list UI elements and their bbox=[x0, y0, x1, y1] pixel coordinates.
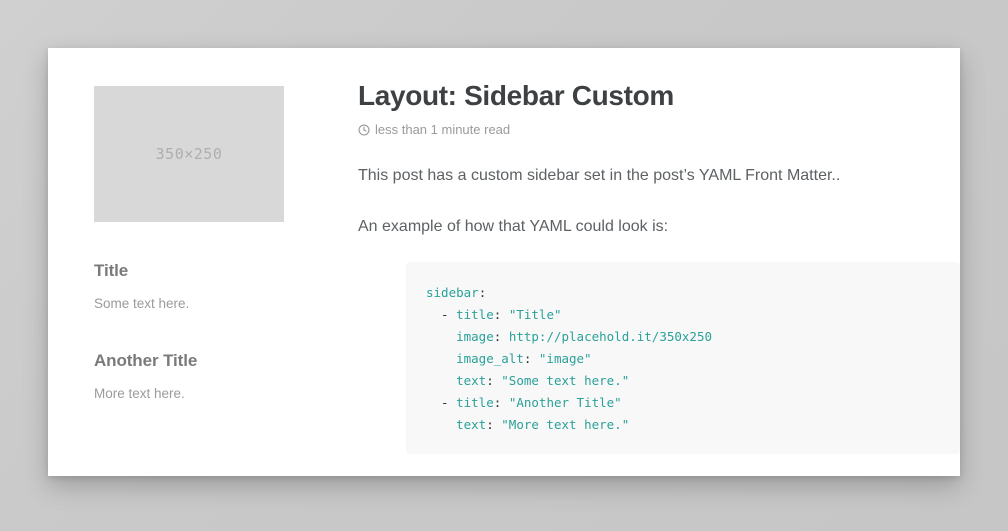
yaml-code: sidebar: - title: "Title" image: http://… bbox=[426, 285, 712, 432]
read-time-label: less than 1 minute read bbox=[375, 122, 510, 137]
sidebar-thumbnail: 350×250 bbox=[94, 86, 284, 222]
post-paragraph: An example of how that YAML could look i… bbox=[358, 215, 960, 240]
page-title: Layout: Sidebar Custom bbox=[358, 80, 960, 112]
post-paragraph: This post has a custom sidebar set in th… bbox=[358, 164, 960, 189]
yaml-code-block: sidebar: - title: "Title" image: http://… bbox=[406, 262, 960, 454]
image-placeholder-icon: 350×250 bbox=[156, 145, 223, 163]
clock-icon bbox=[358, 124, 370, 136]
sidebar-block-title: Title bbox=[94, 261, 284, 281]
post-content: Layout: Sidebar Custom less than 1 minut… bbox=[358, 80, 960, 240]
sidebar-block-title: Another Title bbox=[94, 351, 284, 371]
sidebar-block: Title Some text here. bbox=[94, 261, 284, 314]
post-sidebar: 350×250 Title Some text here. Another Ti… bbox=[94, 86, 330, 405]
post-meta: less than 1 minute read bbox=[358, 122, 960, 137]
sidebar-block: Another Title More text here. bbox=[94, 351, 284, 404]
sidebar-block-text: Some text here. bbox=[94, 294, 284, 314]
post-card: 350×250 Title Some text here. Another Ti… bbox=[48, 48, 960, 476]
post-card-inner: 350×250 Title Some text here. Another Ti… bbox=[48, 48, 960, 476]
sidebar-block-text: More text here. bbox=[94, 384, 284, 404]
yaml-code-content: sidebar: - title: "Title" image: http://… bbox=[406, 262, 960, 436]
